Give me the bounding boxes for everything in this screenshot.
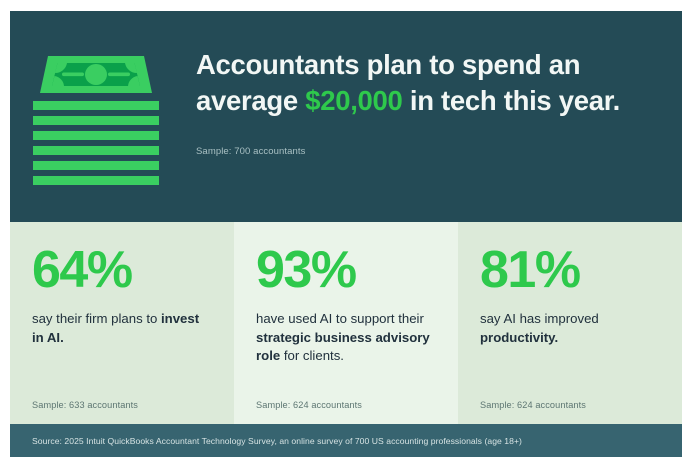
stat-card-invest-in-ai: 64% say their firm plans to invest in AI… (10, 222, 234, 424)
stat-desc-plain-1: have used AI to support their (256, 311, 424, 326)
stat-sample-note: Sample: 624 accountants (256, 400, 362, 410)
stat-desc-bold-1: productivity. (480, 330, 558, 345)
stat-desc-plain-2: for clients. (280, 348, 344, 363)
hero-section: Accountants plan to spend an average $20… (10, 11, 682, 222)
stat-card-advisory-role: 93% have used AI to support their strate… (234, 222, 458, 424)
hero-icon-wrap (10, 11, 182, 185)
hero-sample-note: Sample: 700 accountants (196, 146, 658, 157)
hero-text-block: Accountants plan to spend an average $20… (182, 11, 682, 157)
infographic-card: Accountants plan to spend an average $20… (10, 11, 682, 457)
stat-description: have used AI to support their strategic … (256, 310, 436, 366)
stat-desc-plain-1: say AI has improved (480, 311, 599, 326)
headline-amount: $20,000 (305, 85, 402, 116)
hero-headline: Accountants plan to spend an average $20… (196, 47, 658, 120)
stat-card-productivity: 81% say AI has improved productivity. Sa… (458, 222, 682, 424)
stat-description: say their firm plans to invest in AI. (32, 310, 212, 347)
source-text: Source: 2025 Intuit QuickBooks Accountan… (32, 436, 522, 446)
stats-row: 64% say their firm plans to invest in AI… (10, 222, 682, 424)
stack-of-cash-icon (32, 53, 160, 185)
stat-sample-note: Sample: 624 accountants (480, 400, 586, 410)
headline-part-2: in tech this year. (403, 85, 620, 116)
stat-sample-note: Sample: 633 accountants (32, 400, 138, 410)
stat-description: say AI has improved productivity. (480, 310, 660, 347)
stat-value: 81% (480, 244, 660, 296)
source-footer: Source: 2025 Intuit QuickBooks Accountan… (10, 424, 682, 457)
stat-desc-plain-1: say their firm plans to (32, 311, 161, 326)
stat-value: 93% (256, 244, 436, 296)
stat-value: 64% (32, 244, 212, 296)
